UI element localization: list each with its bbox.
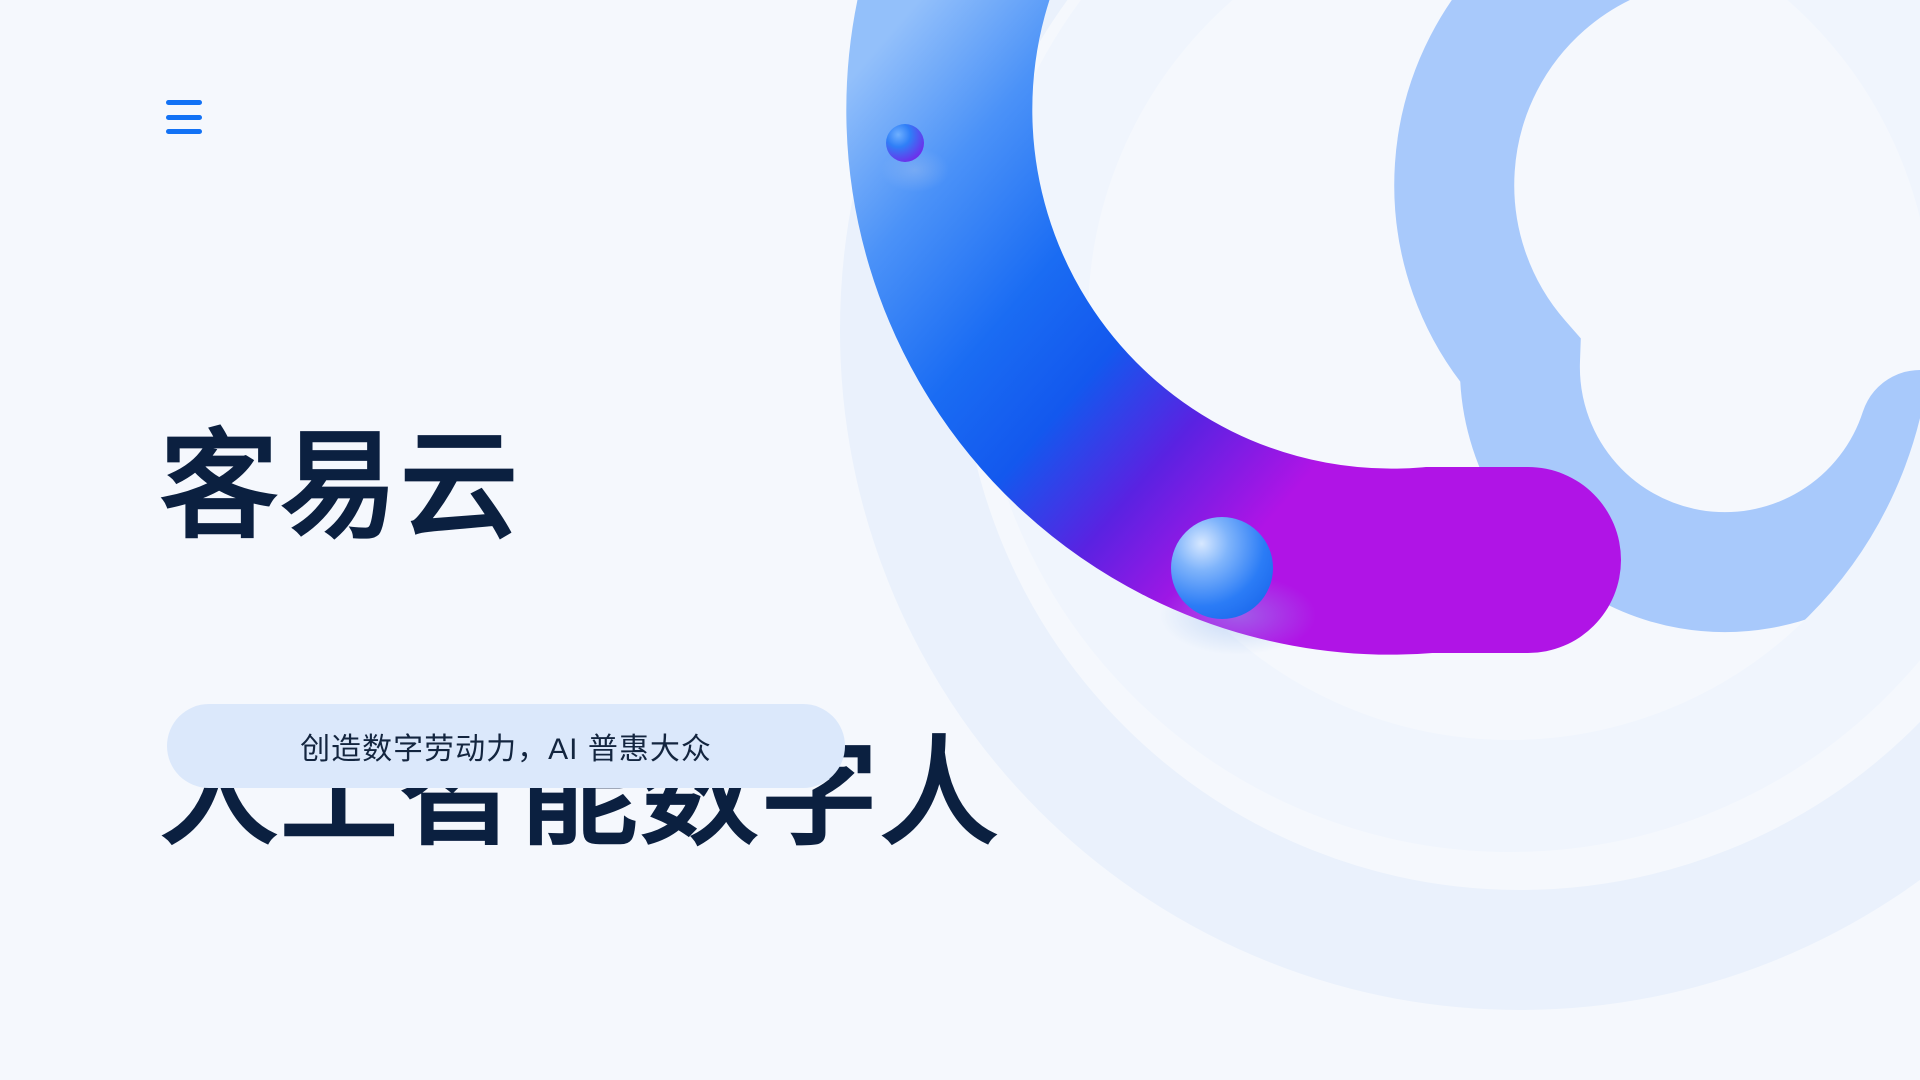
slide-canvas: 客易云 人工智能数字人 创造数字劳动力，AI 普惠大众 [0, 0, 1920, 1080]
hamburger-bar-3 [166, 129, 202, 134]
page-title: 客易云 人工智能数字人 [160, 258, 1140, 1025]
pale-blue-arc [1454, 0, 1920, 572]
small-gradient-sphere [881, 124, 949, 192]
faint-ring [1032, 0, 1920, 796]
subtitle-text: 创造数字劳动力，AI 普惠大众 [300, 724, 712, 768]
subtitle-pill: 创造数字劳动力，AI 普惠大众 [167, 704, 845, 788]
hamburger-menu-button[interactable] [166, 100, 202, 134]
page-title-line-1: 客易云 [160, 411, 1140, 564]
large-blue-sphere [1160, 517, 1316, 655]
hamburger-bar-2 [166, 115, 202, 120]
hamburger-bar-1 [166, 100, 202, 105]
